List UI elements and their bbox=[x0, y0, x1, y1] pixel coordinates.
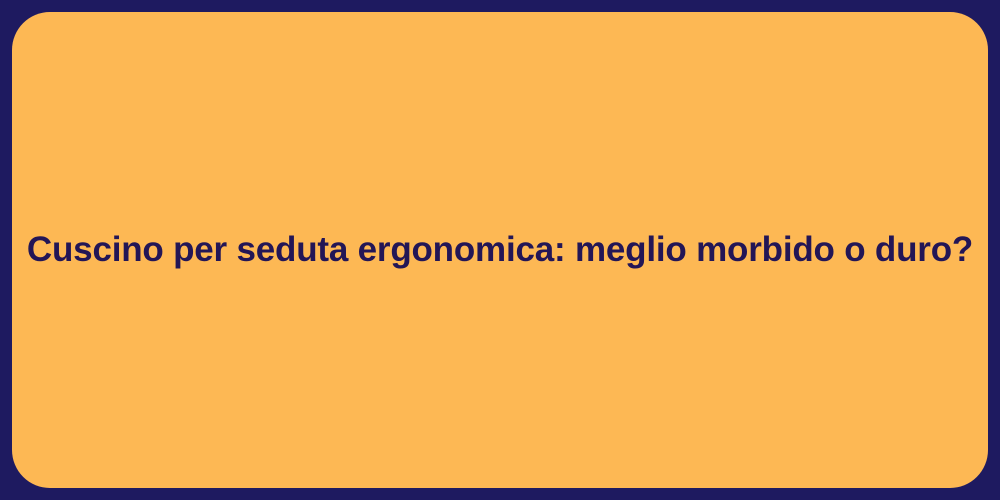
banner-panel: Cuscino per seduta ergonomica: meglio mo… bbox=[12, 12, 988, 488]
banner-headline: Cuscino per seduta ergonomica: meglio mo… bbox=[27, 229, 973, 271]
banner-frame: Cuscino per seduta ergonomica: meglio mo… bbox=[0, 0, 1000, 500]
